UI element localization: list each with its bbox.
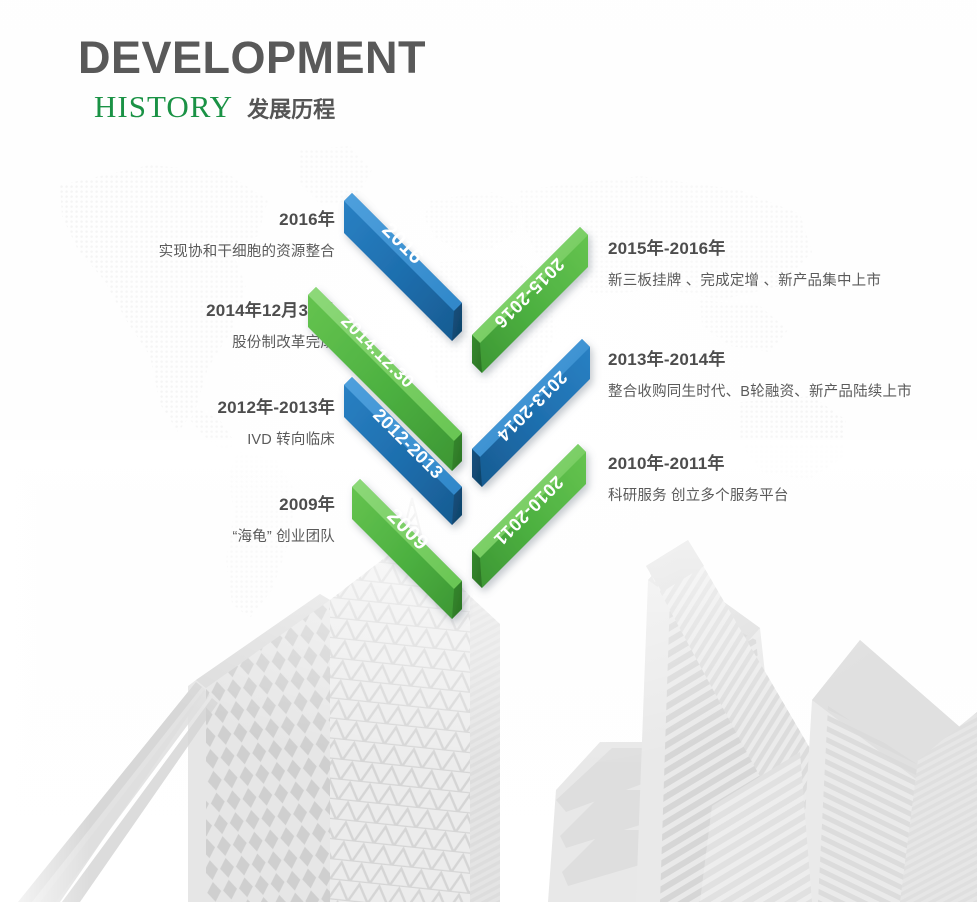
page-title: DEVELOPMENT	[78, 32, 426, 84]
timeline-chevrons: 2016 2014.12.30 2012-2013 2009	[0, 0, 977, 902]
subtitle-history: HISTORY	[94, 90, 233, 124]
infographic-canvas: DEVELOPMENT HISTORY 发展历程	[0, 0, 977, 902]
page-header: DEVELOPMENT HISTORY 发展历程	[78, 32, 426, 124]
subtitle-chinese: 发展历程	[247, 96, 335, 124]
page-subtitle: HISTORY 发展历程	[94, 90, 426, 124]
